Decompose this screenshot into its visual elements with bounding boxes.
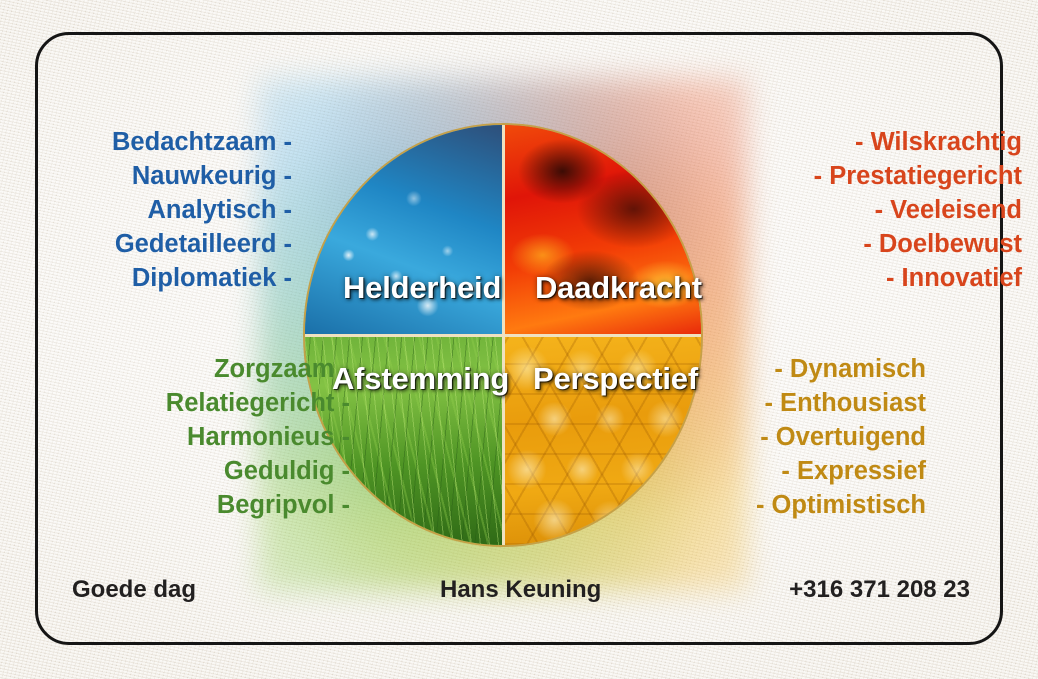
trait-item: - Enthousiast	[660, 386, 926, 420]
trait-item: - Overtuigend	[660, 420, 926, 454]
trait-list-helderheid: Bedachtzaam - Nauwkeurig - Analytisch - …	[0, 125, 292, 295]
trait-item: - Optimistisch	[660, 488, 926, 522]
quadrant-label-helderheid: Helderheid	[343, 270, 501, 306]
four-quadrant-wheel	[305, 125, 701, 545]
trait-item: Begripvol -	[0, 488, 350, 522]
trait-list-daadkracht: - Wilskrachtig - Prestatiegericht - Veel…	[660, 125, 1022, 295]
footer-greeting: Goede dag	[72, 576, 196, 604]
trait-item: - Wilskrachtig	[660, 125, 1022, 159]
business-card: Helderheid Daadkracht Afstemming Perspec…	[0, 0, 1038, 679]
trait-item: Zorgzaam -	[0, 352, 350, 386]
trait-item: - Veeleisend	[660, 193, 1022, 227]
trait-item: Bedachtzaam -	[0, 125, 292, 159]
trait-item: Relatiegericht -	[0, 386, 350, 420]
trait-item: Geduldig -	[0, 454, 350, 488]
trait-item: Analytisch -	[0, 193, 292, 227]
trait-item: Gedetailleerd -	[0, 227, 292, 261]
trait-item: Harmonieus -	[0, 420, 350, 454]
trait-item: Diplomatiek -	[0, 261, 292, 295]
quadrant-label-afstemming: Afstemming	[332, 361, 509, 397]
trait-item: - Prestatiegericht	[660, 159, 1022, 193]
footer-contact-name: Hans Keuning	[440, 576, 601, 604]
trait-item: - Dynamisch	[660, 352, 926, 386]
trait-list-afstemming: Zorgzaam - Relatiegericht - Harmonieus -…	[0, 352, 350, 522]
trait-item: - Doelbewust	[660, 227, 1022, 261]
trait-item: Nauwkeurig -	[0, 159, 292, 193]
trait-list-perspectief: - Dynamisch - Enthousiast - Overtuigend …	[660, 352, 926, 522]
quadrant-label-daadkracht: Daadkracht	[535, 270, 702, 306]
trait-item: - Expressief	[660, 454, 926, 488]
card-footer: Goede dag Hans Keuning +316 371 208 23	[72, 576, 970, 610]
quadrant-label-perspectief: Perspectief	[533, 361, 698, 397]
footer-phone-number[interactable]: +316 371 208 23	[789, 576, 970, 604]
trait-item: - Innovatief	[660, 261, 1022, 295]
